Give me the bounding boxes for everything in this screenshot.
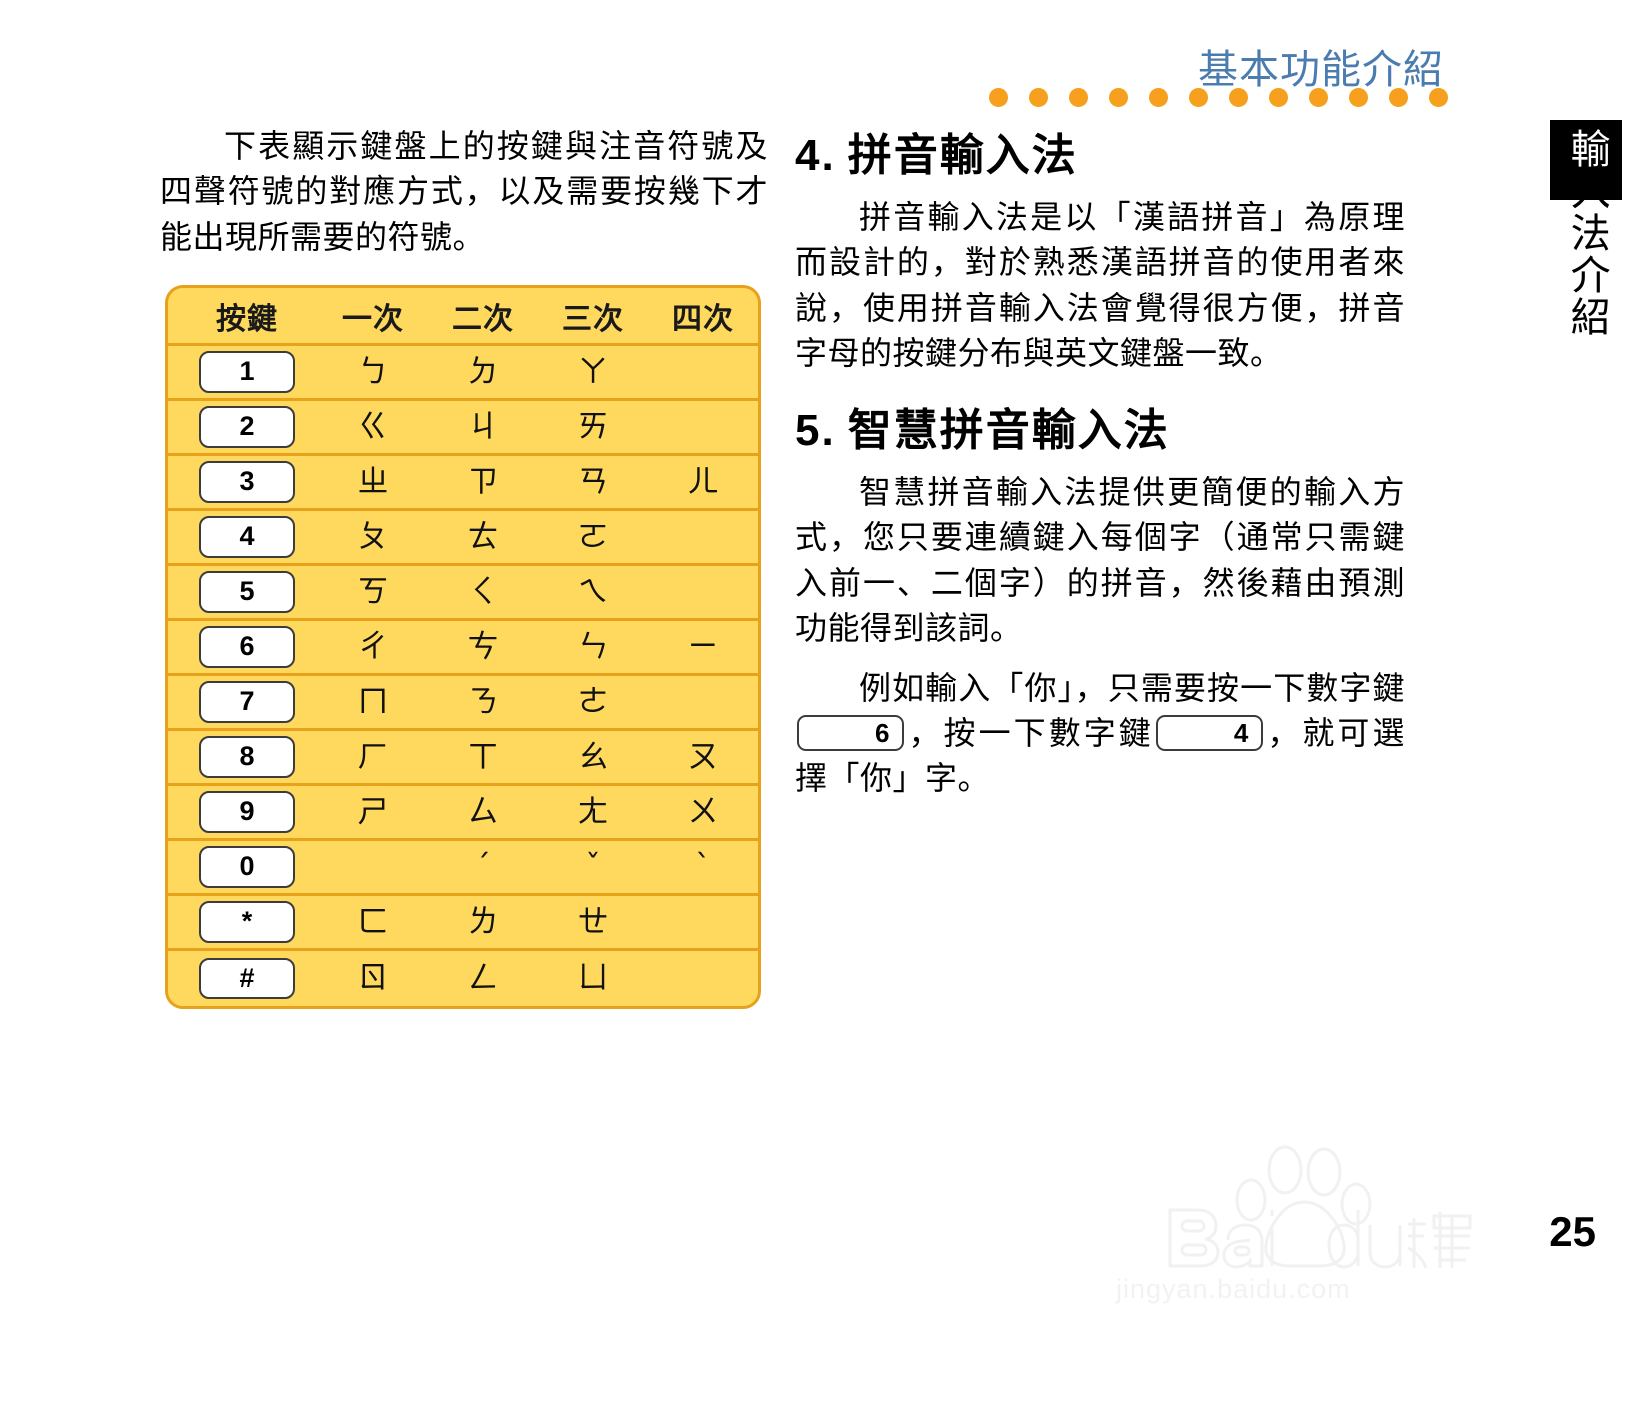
header-dot bbox=[1389, 88, 1408, 107]
table-row: 3ㄓㄗㄢㄦ bbox=[168, 456, 758, 511]
press-1-cell: ㄇ bbox=[318, 687, 428, 718]
press-3-cell: ㄩ bbox=[538, 963, 648, 994]
keycap-1: 1 bbox=[199, 351, 295, 393]
column-header-key: 按鍵 bbox=[168, 294, 318, 338]
press-1-cell: ㄍ bbox=[318, 412, 428, 443]
keycap-7: 7 bbox=[199, 681, 295, 723]
section-4-title: 拼音輸入法 bbox=[848, 131, 1078, 180]
section-5-heading: 5.智慧拼音輸入法 bbox=[795, 403, 1405, 458]
press-2-cell: ㄙ bbox=[428, 797, 538, 828]
press-1-cell: ㄅ bbox=[318, 357, 428, 388]
press-3-cell: ㄞ bbox=[538, 412, 648, 443]
key-cell: 7 bbox=[168, 681, 318, 723]
intro-paragraph: 下表顯示鍵盤上的按鍵與注音符號及四聲符號的對應方式，以及需要按幾下才能出現所需要… bbox=[160, 124, 768, 260]
section-4-body: 拼音輸入法是以「漢語拼音」為原理而設計的，對於熟悉漢語拼音的使用者來說，使用拼音… bbox=[795, 195, 1405, 377]
inline-keycap-4: 4 bbox=[1156, 715, 1263, 752]
column-header-press1: 一次 bbox=[318, 294, 428, 338]
press-2-cell: ㄋ bbox=[428, 687, 538, 718]
press-1-cell: ㄆ bbox=[318, 522, 428, 553]
key-cell: * bbox=[168, 901, 318, 943]
watermark-url: jingyan.baidu.com bbox=[1116, 1274, 1351, 1305]
side-tab-char-inverted: 輸 bbox=[1565, 128, 1609, 170]
press-3-cell: ㄠ bbox=[538, 742, 648, 773]
header-dot bbox=[1069, 88, 1088, 107]
keycap-*: * bbox=[199, 901, 295, 943]
header-dot bbox=[1189, 88, 1208, 107]
press-3-cell: ㄝ bbox=[538, 907, 648, 938]
press-3-cell: ㄚ bbox=[538, 357, 648, 388]
baidu-logo-icon bbox=[1108, 1128, 1478, 1278]
press-4-cell: ˋ bbox=[648, 852, 758, 883]
header-dot bbox=[1349, 88, 1368, 107]
press-2-cell: ㄗ bbox=[428, 467, 538, 498]
press-3-cell: ˇ bbox=[538, 852, 648, 883]
table-row: 8ㄏㄒㄠㄡ bbox=[168, 731, 758, 786]
header-dot bbox=[1149, 88, 1168, 107]
header-dot bbox=[989, 88, 1008, 107]
keycap-4: 4 bbox=[199, 516, 295, 558]
section-5-example: 例如輸入「你」，只需要按一下數字鍵6，按一下數字鍵4，就可選擇「你」字。 bbox=[795, 666, 1405, 802]
press-2-cell: ㄒ bbox=[428, 742, 538, 773]
press-2-cell: ˊ bbox=[428, 852, 538, 883]
press-2-cell: ㄑ bbox=[428, 577, 538, 608]
press-4-cell: ㄧ bbox=[648, 632, 758, 663]
table-row: 6ㄔㄘㄣㄧ bbox=[168, 621, 758, 676]
keycap-5: 5 bbox=[199, 571, 295, 613]
key-cell: 6 bbox=[168, 626, 318, 668]
press-3-cell: ㄟ bbox=[538, 577, 648, 608]
keycap-6: 6 bbox=[199, 626, 295, 668]
press-3-cell: ㄤ bbox=[538, 797, 648, 828]
press-1-cell: ㄎ bbox=[318, 577, 428, 608]
section-pinyin-input: 4.拼音輸入法 拼音輸入法是以「漢語拼音」為原理而設計的，對於熟悉漢語拼音的使用… bbox=[795, 128, 1405, 377]
press-1-cell: ㄈ bbox=[318, 907, 428, 938]
key-cell: 0 bbox=[168, 846, 318, 888]
keycap-9: 9 bbox=[199, 791, 295, 833]
press-3-cell: ㄜ bbox=[538, 687, 648, 718]
press-4-cell: ㄨ bbox=[648, 797, 758, 828]
key-cell: # bbox=[168, 958, 318, 1000]
bopomofo-key-table: 按鍵 一次 二次 三次 四次 1ㄅㄉㄚ2ㄍㄐㄞ3ㄓㄗㄢㄦ4ㄆㄊㄛ5ㄎㄑㄟ6ㄔㄘㄣ… bbox=[165, 285, 761, 1009]
right-column: 4.拼音輸入法 拼音輸入法是以「漢語拼音」為原理而設計的，對於熟悉漢語拼音的使用… bbox=[795, 128, 1405, 816]
page-number: 25 bbox=[1549, 1208, 1596, 1256]
section-5-title: 智慧拼音輸入法 bbox=[848, 406, 1170, 455]
header-dot bbox=[1309, 88, 1328, 107]
key-cell: 8 bbox=[168, 736, 318, 778]
column-header-press2: 二次 bbox=[428, 294, 538, 338]
press-2-cell: ㄘ bbox=[428, 632, 538, 663]
decorative-dot-rule bbox=[989, 88, 1448, 107]
inline-keycap-6: 6 bbox=[797, 715, 904, 752]
press-4-cell: ㄦ bbox=[648, 467, 758, 498]
press-2-cell: ㄉ bbox=[428, 357, 538, 388]
side-tab-label: 輸入法介紹 bbox=[1565, 128, 1606, 338]
key-cell: 9 bbox=[168, 791, 318, 833]
page-header: 基本功能介紹 bbox=[0, 0, 1644, 118]
keycap-2: 2 bbox=[199, 406, 295, 448]
section-4-heading: 4.拼音輸入法 bbox=[795, 128, 1405, 183]
table-row: *ㄈㄌㄝ bbox=[168, 896, 758, 951]
table-row: 1ㄅㄉㄚ bbox=[168, 346, 758, 401]
table-row: 4ㄆㄊㄛ bbox=[168, 511, 758, 566]
chapter-side-tab: 輸入法介紹 bbox=[1550, 120, 1622, 343]
press-1-cell: ㄔ bbox=[318, 632, 428, 663]
table-row: 5ㄎㄑㄟ bbox=[168, 566, 758, 621]
press-1-cell: ㄖ bbox=[318, 963, 428, 994]
press-1-cell: ㄓ bbox=[318, 467, 428, 498]
page-title: 基本功能介紹 bbox=[1198, 50, 1444, 90]
table-row: 9ㄕㄙㄤㄨ bbox=[168, 786, 758, 841]
table-row: 0ˊˇˋ bbox=[168, 841, 758, 896]
table-row: 2ㄍㄐㄞ bbox=[168, 401, 758, 456]
press-4-cell: ㄡ bbox=[648, 742, 758, 773]
key-cell: 4 bbox=[168, 516, 318, 558]
table-header-row: 按鍵 一次 二次 三次 四次 bbox=[168, 288, 758, 346]
keycap-8: 8 bbox=[199, 736, 295, 778]
header-dot bbox=[1429, 88, 1448, 107]
table-row: #ㄖㄥㄩ bbox=[168, 951, 758, 1006]
key-cell: 1 bbox=[168, 351, 318, 393]
header-dot bbox=[1269, 88, 1288, 107]
example-text-part1: 例如輸入「你」，只需要按一下數字鍵 bbox=[859, 670, 1405, 706]
press-3-cell: ㄢ bbox=[538, 467, 648, 498]
keycap-0: 0 bbox=[199, 846, 295, 888]
header-dot bbox=[1109, 88, 1128, 107]
press-1-cell: ㄏ bbox=[318, 742, 428, 773]
key-cell: 5 bbox=[168, 571, 318, 613]
section-4-number: 4. bbox=[795, 131, 836, 180]
column-header-press3: 三次 bbox=[538, 294, 648, 338]
key-cell: 3 bbox=[168, 461, 318, 503]
press-3-cell: ㄛ bbox=[538, 522, 648, 553]
section-5-number: 5. bbox=[795, 406, 836, 455]
column-header-press4: 四次 bbox=[648, 294, 758, 338]
side-tab-char-normal: 入法介紹 bbox=[1565, 170, 1609, 338]
press-3-cell: ㄣ bbox=[538, 632, 648, 663]
example-text-part2: ，按一下數字鍵 bbox=[906, 715, 1154, 751]
press-2-cell: ㄐ bbox=[428, 412, 538, 443]
header-dot bbox=[1229, 88, 1248, 107]
key-cell: 2 bbox=[168, 406, 318, 448]
baidu-watermark: jingyan.baidu.com bbox=[1108, 1128, 1478, 1303]
press-2-cell: ㄥ bbox=[428, 963, 538, 994]
table-row: 7ㄇㄋㄜ bbox=[168, 676, 758, 731]
keycap-3: 3 bbox=[199, 461, 295, 503]
section-5-body: 智慧拼音輸入法提供更簡便的輸入方式，您只要連續鍵入每個字（通常只需鍵入前一、二個… bbox=[795, 470, 1405, 652]
table-body: 1ㄅㄉㄚ2ㄍㄐㄞ3ㄓㄗㄢㄦ4ㄆㄊㄛ5ㄎㄑㄟ6ㄔㄘㄣㄧ7ㄇㄋㄜ8ㄏㄒㄠㄡ9ㄕㄙㄤㄨ… bbox=[168, 346, 758, 1006]
keycap-#: # bbox=[199, 958, 295, 1000]
header-dot bbox=[1029, 88, 1048, 107]
left-column: 下表顯示鍵盤上的按鍵與注音符號及四聲符號的對應方式，以及需要按幾下才能出現所需要… bbox=[160, 124, 768, 274]
section-smart-pinyin-input: 5.智慧拼音輸入法 智慧拼音輸入法提供更簡便的輸入方式，您只要連續鍵入每個字（通… bbox=[795, 403, 1405, 802]
press-2-cell: ㄊ bbox=[428, 522, 538, 553]
press-1-cell: ㄕ bbox=[318, 797, 428, 828]
press-2-cell: ㄌ bbox=[428, 907, 538, 938]
